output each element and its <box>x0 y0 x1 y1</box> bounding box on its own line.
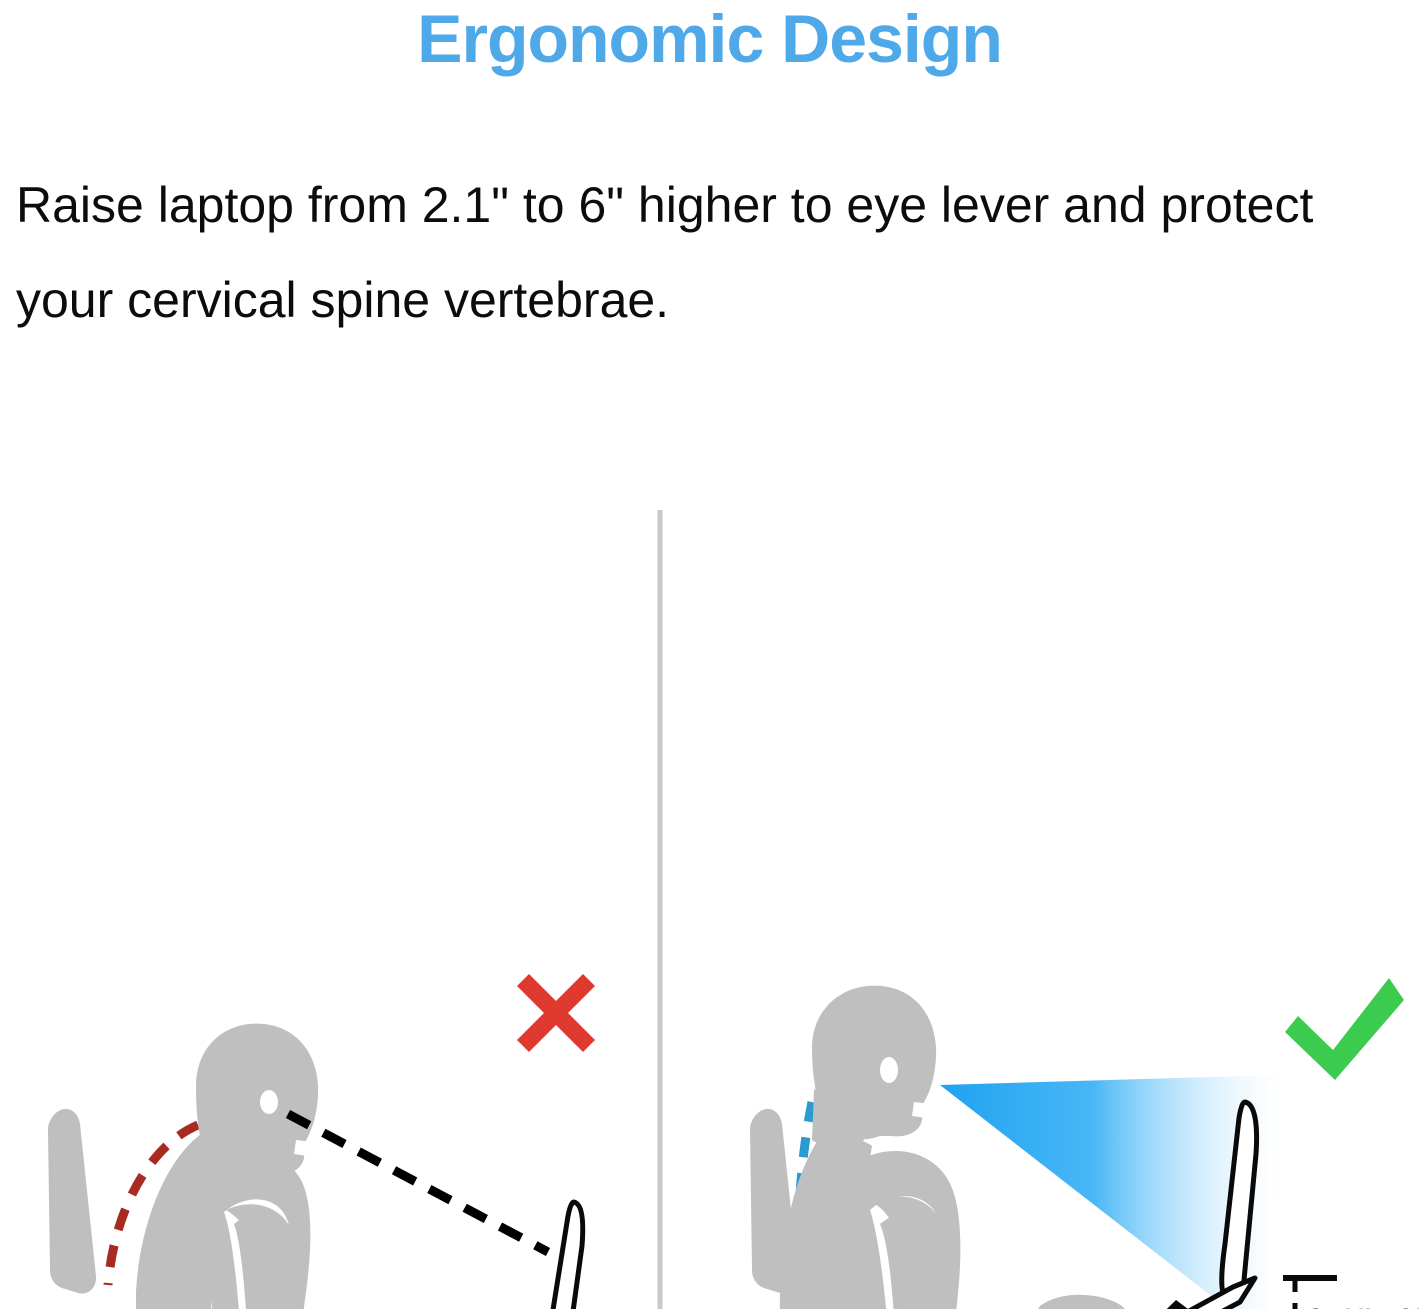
check-mark-icon <box>1285 978 1404 1080</box>
cross-mark-icon <box>523 980 589 1046</box>
illustration-area: 2.1"- 6" <box>0 440 1419 1309</box>
sight-line-dashed <box>288 1114 548 1252</box>
eye <box>880 1057 898 1083</box>
page-title: Ergonomic Design <box>0 2 1419 76</box>
chair-backrest <box>48 1109 96 1294</box>
page-subtitle: Raise laptop from 2.1" to 6" higher to e… <box>16 158 1401 348</box>
eye <box>260 1090 278 1114</box>
good-posture-panel <box>722 978 1404 1309</box>
hand <box>1036 1295 1129 1309</box>
bad-posture-panel <box>20 980 614 1309</box>
height-measurement-label: 2.1"- 6" <box>1305 1302 1419 1309</box>
infographic-page: Ergonomic Design Raise laptop from 2.1" … <box>0 0 1419 1309</box>
